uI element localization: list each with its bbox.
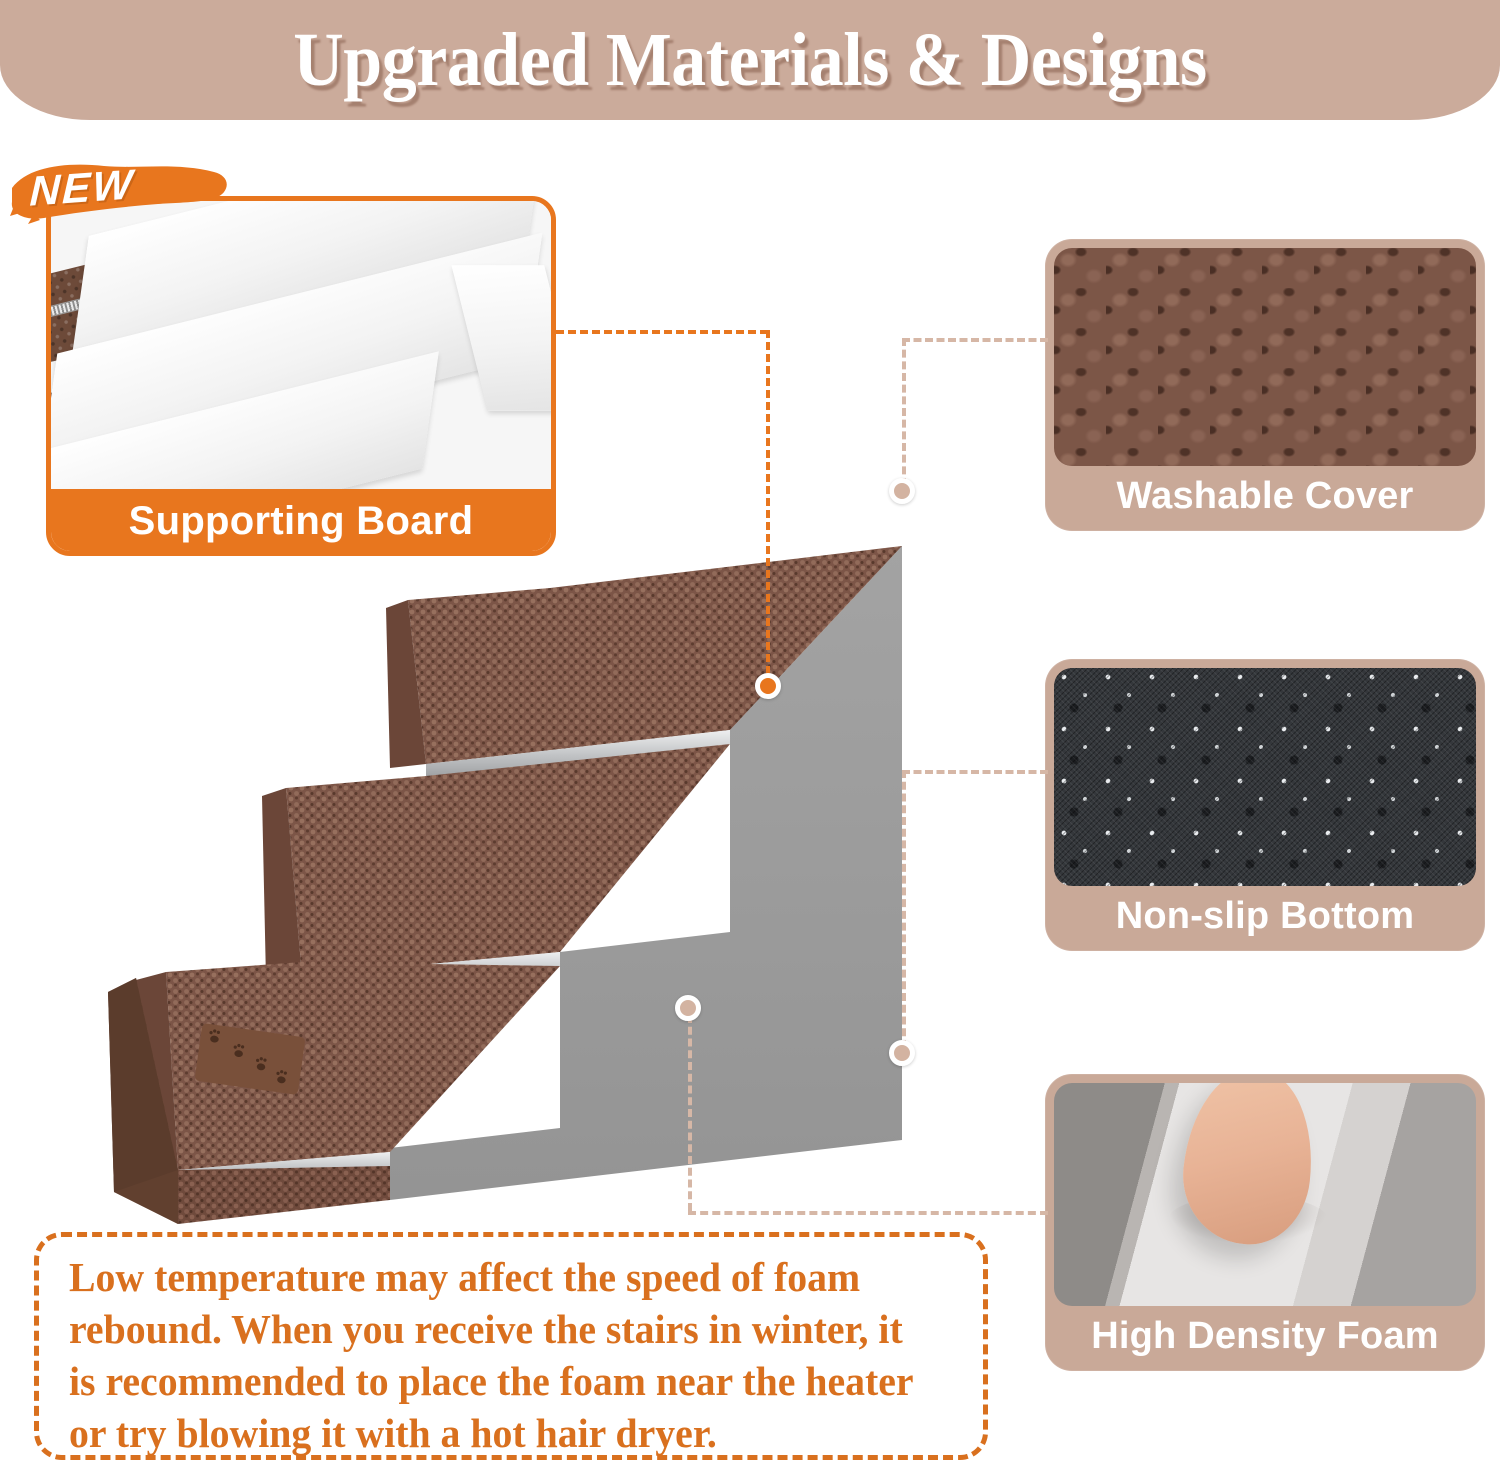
high-density-foam-photo: [1054, 1083, 1476, 1306]
warning-note-box: Low temperature may affect the speed of …: [34, 1232, 988, 1460]
page-title: Upgraded Materials & Designs: [60, 5, 1440, 115]
infographic-root: Upgraded Materials & Designs Supporting …: [0, 0, 1500, 1482]
connector-dot-washable-cover: [889, 478, 915, 504]
feature-card-washable-cover[interactable]: Washable Cover: [1046, 240, 1484, 530]
pet-stairs-illustration: [90, 400, 1050, 1230]
connector-dot-non-slip-bottom: [889, 1040, 915, 1066]
high-density-foam-caption: High Density Foam: [1046, 1302, 1484, 1370]
feature-card-high-density-foam[interactable]: High Density Foam: [1046, 1075, 1484, 1370]
feature-card-non-slip-bottom[interactable]: Non-slip Bottom: [1046, 660, 1484, 950]
washable-cover-swatch: [1054, 248, 1476, 466]
connector-dot-supporting-board: [755, 673, 781, 699]
non-slip-bottom-swatch: [1054, 668, 1476, 886]
non-slip-bottom-caption: Non-slip Bottom: [1046, 882, 1484, 950]
new-badge-label: NEW: [29, 160, 135, 215]
product-image-pet-stairs: [90, 400, 1050, 1230]
washable-cover-caption: Washable Cover: [1046, 462, 1484, 530]
warning-note-text: Low temperature may affect the speed of …: [69, 1251, 930, 1459]
new-badge: NEW: [8, 158, 233, 230]
connector-dot-high-density-foam: [675, 995, 701, 1021]
